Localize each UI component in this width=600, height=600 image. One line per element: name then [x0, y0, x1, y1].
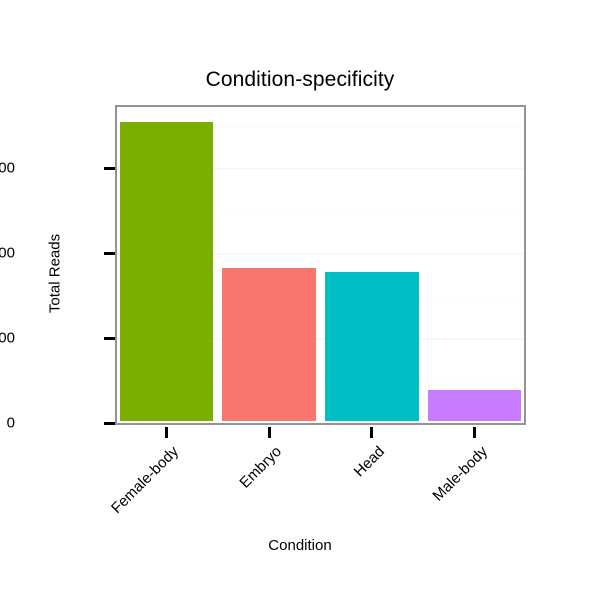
bar: [222, 268, 316, 421]
y-axis-tick-label: 300: [0, 160, 15, 177]
y-axis-tick-mark: [104, 252, 115, 255]
bar: [120, 122, 214, 421]
x-axis-tick-label: Male-body: [429, 443, 491, 505]
bar-chart-figure: Condition-specificity 0100200300 Total R…: [0, 0, 600, 600]
bar: [325, 272, 419, 422]
x-axis-tick-label: Female-body: [108, 443, 182, 517]
x-axis-title: Condition: [0, 537, 600, 554]
x-axis-tick-mark: [165, 427, 168, 438]
y-axis-title: Total Reads: [47, 214, 64, 334]
y-axis-tick-mark: [104, 167, 115, 170]
bars-layer: [117, 107, 524, 423]
y-axis-tick-label: 100: [0, 330, 15, 347]
y-axis-tick-mark: [104, 337, 115, 340]
x-axis-tick-mark: [268, 427, 271, 438]
y-axis-tick-label: 200: [0, 245, 15, 262]
x-axis: Female-bodyEmbryoHeadMale-body: [0, 425, 600, 545]
x-axis-tick-label: Head: [351, 443, 388, 480]
bar: [428, 390, 522, 421]
x-axis-tick-label: Embryo: [237, 443, 286, 492]
plot-panel: [115, 105, 526, 425]
x-axis-tick-mark: [370, 427, 373, 438]
x-axis-tick-mark: [473, 427, 476, 438]
